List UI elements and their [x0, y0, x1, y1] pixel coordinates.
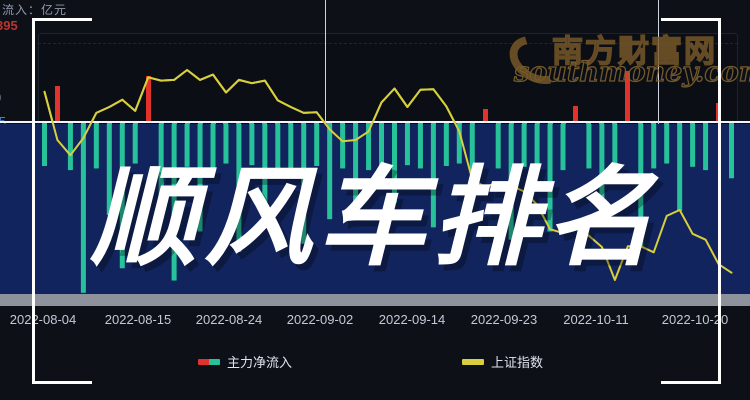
frame-corner-top-left: [32, 18, 92, 21]
legend-label: 上证指数: [491, 352, 543, 371]
x-axis-label: 2022-09-23: [471, 312, 538, 327]
x-axis-label: 2022-08-15: [105, 312, 172, 327]
frame-corner-bottom-left: [32, 381, 92, 384]
frame-left-edge: [32, 18, 35, 384]
frame-right-edge: [718, 18, 721, 384]
legend: 主力净流入 上证指数: [0, 348, 750, 374]
bottom-divider: [0, 294, 750, 306]
page-title: 顺风车排名: [0, 124, 750, 294]
zero-baseline: [0, 121, 750, 123]
legend-item-sse-index[interactable]: 上证指数: [462, 352, 543, 371]
x-axis-label: 2022-10-11: [563, 312, 629, 327]
unit-label: 流入：亿元: [2, 1, 67, 18]
x-axis-label: 2022-09-14: [379, 312, 446, 327]
x-axis: 2022-08-04 2022-08-15 2022-08-24 2022-09…: [0, 312, 750, 334]
y-axis-label-0: 0: [0, 90, 1, 105]
stock-flow-chart: 流入：亿元 395 0 .25 644 62 南方财富网 southmoney.…: [0, 0, 750, 400]
x-axis-label: 2022-08-04: [10, 312, 77, 327]
legend-label: 主力净流入: [227, 352, 292, 371]
x-axis-label: 2022-09-02: [287, 312, 354, 327]
legend-swatch-icon: [462, 359, 484, 365]
legend-swatch-icon: [198, 359, 220, 365]
x-axis-label: 2022-08-24: [196, 312, 263, 327]
tooltip-value: 395: [0, 18, 18, 33]
frame-corner-bottom-right: [661, 381, 721, 384]
frame-corner-top-right: [661, 18, 721, 21]
legend-item-net-inflow[interactable]: 主力净流入: [198, 352, 292, 371]
